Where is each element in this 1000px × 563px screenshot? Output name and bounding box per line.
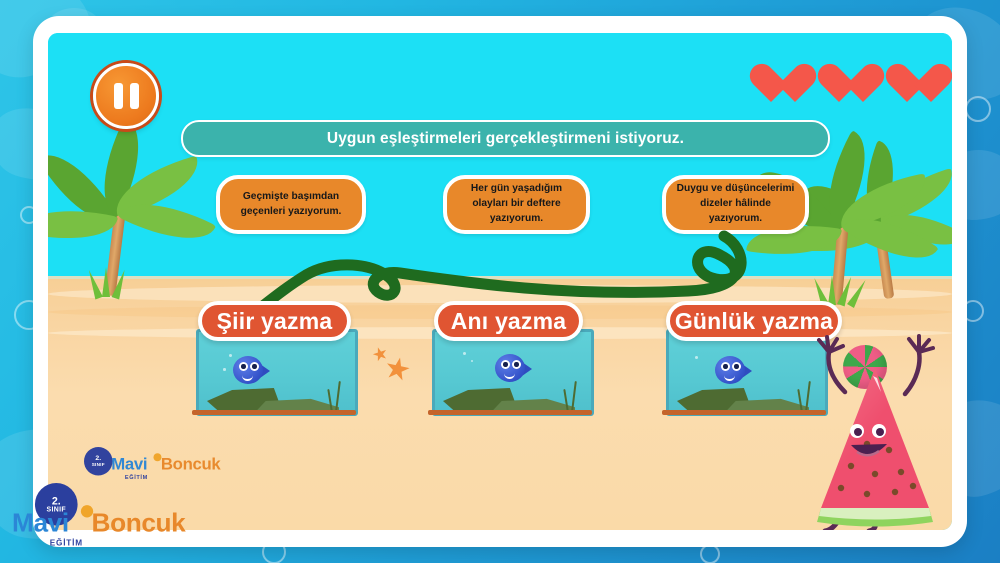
fish-eye: [501, 360, 510, 369]
grass-tuft: [102, 267, 110, 297]
brand-sub-label: EĞİTİM: [125, 474, 148, 480]
answer-button-ani-yazma[interactable]: Anı yazma: [434, 301, 583, 341]
brand-word-mavi: Mavi: [12, 508, 69, 538]
fish-eye: [512, 360, 521, 369]
grass-tuft: [828, 275, 836, 305]
seaweed-icon: [335, 381, 341, 411]
pause-icon-bar: [130, 83, 139, 109]
fish-eye: [239, 362, 248, 371]
aquarium-base: [662, 410, 826, 415]
grade-label: SINIF: [92, 462, 105, 467]
aquarium-base: [192, 410, 356, 415]
aquarium-1: [196, 329, 358, 416]
pufferfish-icon: [231, 354, 269, 386]
fish-eye: [732, 362, 741, 371]
pause-icon-bar: [114, 83, 123, 109]
aquarium-3: [666, 329, 828, 416]
fish-eye: [250, 362, 259, 371]
brand-word-boncuk: Boncuk: [161, 454, 221, 473]
bubble-icon: [471, 360, 473, 362]
bubble-icon: [463, 352, 466, 355]
pufferfish-icon: [713, 354, 751, 386]
seaweed-icon: [571, 381, 577, 411]
aquarium-base: [428, 410, 592, 415]
heart-icon: [748, 65, 794, 107]
brand-sub-label: EĞİTİM: [50, 539, 83, 548]
brand-word-boncuk: Boncuk: [92, 508, 186, 538]
bubble-icon: [965, 96, 991, 122]
question-card-2[interactable]: Her gün yaşadığım olayları bir deftere y…: [443, 175, 590, 234]
brand-logo-group: 2. SINIF Mavi Boncuk EĞİTİM 2. SINIF Mav…: [4, 441, 214, 561]
answer-button-siir-yazma[interactable]: Şiir yazma: [198, 301, 351, 341]
palm-tree-left: [66, 143, 206, 293]
heart-icon: [884, 65, 930, 107]
heart-icon: [816, 65, 862, 107]
aquarium-2: [432, 329, 594, 416]
question-card-3[interactable]: Duygu ve düşüncelerimi dizeler hâlinde y…: [662, 175, 809, 234]
brand-word-mavi: Mavi: [111, 454, 147, 473]
game-screen: Uygun eşleştirmeleri gerçekleştirmeni is…: [0, 0, 1000, 563]
grade-badge: 2. SINIF: [84, 447, 113, 476]
watermelon-mascot: [805, 332, 950, 530]
fish-eye: [721, 362, 730, 371]
bubble-icon: [695, 356, 698, 359]
pufferfish-icon: [493, 352, 531, 384]
bubble-icon: [223, 368, 226, 371]
pause-button[interactable]: [93, 63, 159, 129]
instruction-banner: Uygun eşleştirmeleri gerçekleştirmeni is…: [181, 120, 830, 157]
question-card-1[interactable]: Geçmişte başımdan geçenleri yazıyorum.: [216, 175, 366, 234]
lives-hearts: [748, 65, 930, 107]
